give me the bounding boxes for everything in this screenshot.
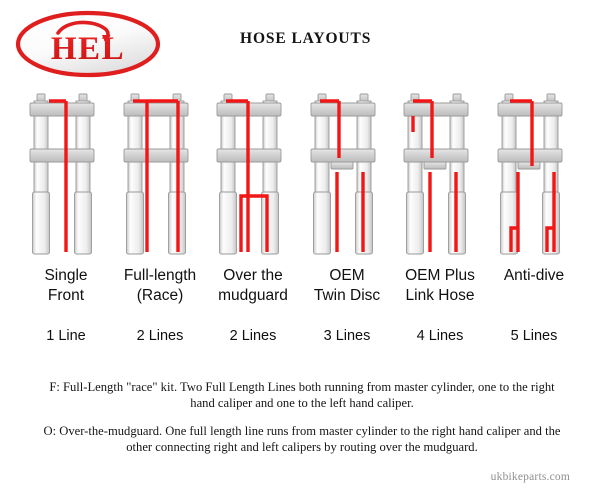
fork-label-anti-dive: Anti-dive bbox=[488, 266, 580, 286]
fork-count-single-front: 1 Line bbox=[20, 328, 112, 344]
fork-diagram-oem-plus-link-hose bbox=[394, 92, 486, 262]
site-watermark: ukbikeparts.com bbox=[491, 471, 570, 483]
fork-cell-oem-plus-link-hose bbox=[394, 92, 486, 262]
fork-label-line2: Front bbox=[20, 286, 112, 306]
fork-label-line1: Over the bbox=[223, 267, 282, 284]
diagram-labels-row: SingleFrontFull-length(Race)Over themudg… bbox=[20, 266, 580, 314]
slider-left bbox=[314, 192, 331, 254]
bottom-yoke bbox=[30, 149, 94, 162]
fork-label-oem-twin-disc: OEMTwin Disc bbox=[301, 266, 393, 306]
fork-count-over-the-mudguard: 2 Lines bbox=[207, 328, 299, 344]
fork-count-oem-twin-disc: 3 Lines bbox=[301, 328, 393, 344]
fork-label-oem-plus-link-hose: OEM PlusLink Hose bbox=[394, 266, 486, 306]
top-yoke bbox=[498, 103, 562, 116]
fork-diagram-full-length-race bbox=[114, 92, 206, 262]
fork-label-full-length-race: Full-length(Race) bbox=[114, 266, 206, 306]
top-yoke bbox=[30, 103, 94, 116]
bottom-yoke bbox=[311, 149, 375, 162]
slider-left bbox=[220, 192, 237, 254]
fork-cell-full-length-race bbox=[114, 92, 206, 262]
slider-right bbox=[75, 192, 92, 254]
fork-label-single-front: SingleFront bbox=[20, 266, 112, 306]
fork-label-line2: Twin Disc bbox=[301, 286, 393, 306]
hose-splitter-block bbox=[331, 162, 353, 169]
fork-label-line1: OEM Plus bbox=[405, 267, 475, 284]
fork-cell-over-the-mudguard bbox=[207, 92, 299, 262]
fork-cell-single-front bbox=[20, 92, 112, 262]
fork-count-oem-plus-link-hose: 4 Lines bbox=[394, 328, 486, 344]
top-yoke bbox=[404, 103, 468, 116]
hose-layout-diagram-strip bbox=[20, 92, 580, 262]
fork-label-line1: Full-length bbox=[124, 267, 196, 284]
bottom-yoke bbox=[498, 149, 562, 162]
note-f: F: Full-Length "race" kit. Two Full Leng… bbox=[42, 380, 562, 411]
fork-cell-anti-dive bbox=[488, 92, 580, 262]
page-header: HEL HOSE LAYOUTS bbox=[0, 0, 600, 86]
fork-diagram-anti-dive bbox=[488, 92, 580, 262]
fork-label-line2: Link Hose bbox=[394, 286, 486, 306]
fork-label-line2: (Race) bbox=[114, 286, 206, 306]
slider-right bbox=[543, 192, 560, 254]
bottom-yoke bbox=[404, 149, 468, 162]
fork-count-anti-dive: 5 Lines bbox=[488, 328, 580, 344]
slider-left bbox=[407, 192, 424, 254]
fork-label-line1: Single bbox=[44, 267, 87, 284]
fork-label-over-the-mudguard: Over themudguard bbox=[207, 266, 299, 306]
fork-label-line1: Anti-dive bbox=[504, 267, 564, 284]
logo-wordmark: HEL bbox=[51, 31, 125, 67]
hel-oval-logo-icon: HEL bbox=[12, 9, 164, 79]
fork-label-line1: OEM bbox=[329, 267, 364, 284]
fork-count-full-length-race: 2 Lines bbox=[114, 328, 206, 344]
fork-diagram-single-front bbox=[20, 92, 112, 262]
slider-right bbox=[262, 192, 279, 254]
fork-cell-oem-twin-disc bbox=[301, 92, 393, 262]
fork-diagram-oem-twin-disc bbox=[301, 92, 393, 262]
slider-left bbox=[127, 192, 144, 254]
notes-block: F: Full-Length "race" kit. Two Full Leng… bbox=[42, 380, 562, 468]
hose-splitter-block bbox=[424, 162, 446, 169]
note-o: O: Over-the-mudguard. One full length li… bbox=[42, 424, 562, 455]
page-title: HOSE LAYOUTS bbox=[240, 30, 371, 48]
top-yoke bbox=[311, 103, 375, 116]
hose-splitter-block bbox=[518, 162, 540, 169]
slider-left bbox=[33, 192, 50, 254]
slider-left bbox=[501, 192, 518, 254]
fork-label-line2: mudguard bbox=[207, 286, 299, 306]
diagram-line-counts-row: 1 Line2 Lines2 Lines3 Lines4 Lines5 Line… bbox=[20, 328, 580, 352]
hel-logo: HEL bbox=[12, 9, 164, 79]
fork-diagram-over-the-mudguard bbox=[207, 92, 299, 262]
